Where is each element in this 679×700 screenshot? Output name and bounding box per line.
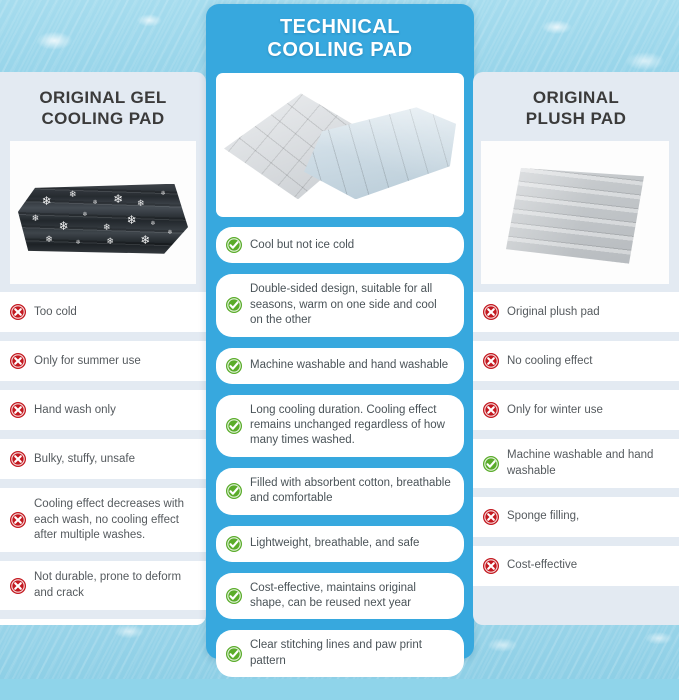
snowflake-icon: ❄ <box>140 234 150 246</box>
right-panel-title: ORIGINAL PLUSH PAD <box>473 72 679 141</box>
panel-technical-cooling-pad: TECHNICAL COOLING PAD Cool but not ice c… <box>206 4 474 659</box>
snowflake-icon: ❄ <box>103 223 111 232</box>
list-item-label: Machine washable and hand washable <box>507 448 669 479</box>
list-item-label: Only for summer use <box>34 354 141 369</box>
list-item: Bulky, stuffy, unsafe <box>0 439 206 479</box>
snowflake-icon: ❄ <box>76 240 81 246</box>
snowflake-icon: ❄ <box>32 214 40 223</box>
list-item: Cool but not ice cold <box>216 227 464 263</box>
cross-icon <box>483 304 499 320</box>
check-icon <box>226 588 242 604</box>
left-feature-list: Too coldOnly for summer useHand wash onl… <box>0 292 206 625</box>
list-item: Not durable, prone to deform and crack <box>0 561 206 610</box>
snowflake-icon: ❄ <box>45 235 53 244</box>
snowflake-icon: ❄ <box>59 220 69 232</box>
check-icon <box>226 237 242 253</box>
left-title-line-1: ORIGINAL GEL <box>10 88 196 109</box>
right-title-line-1: ORIGINAL <box>483 88 669 109</box>
list-item-label: Cool but not ice cold <box>250 238 354 253</box>
center-panel-title: TECHNICAL COOLING PAD <box>206 4 474 73</box>
snowflake-icon: ❄ <box>168 230 173 236</box>
list-item-label: Clear stitching lines and paw print patt… <box>250 638 452 669</box>
snowflake-icon: ❄ <box>113 193 123 205</box>
center-product-image-box <box>216 73 464 217</box>
technical-cooling-pad-photo <box>224 85 456 205</box>
list-item-label: Lightweight, breathable, and safe <box>250 536 419 551</box>
right-feature-list: Original plush padNo cooling effectOnly … <box>473 292 679 586</box>
cross-icon <box>483 509 499 525</box>
list-item: Machine washable and hand washable <box>216 348 464 384</box>
check-icon <box>226 646 242 662</box>
snowflake-icon: ❄ <box>137 199 145 208</box>
list-item-label: Original plush pad <box>507 305 600 320</box>
snowflake-icon: ❄ <box>127 214 137 226</box>
list-item: Cost-effective <box>473 546 679 586</box>
list-item-label: Cost-effective <box>507 558 577 573</box>
snowflake-icon: ❄ <box>161 191 166 197</box>
list-item: Too cold <box>0 292 206 332</box>
list-item: Only for summer use <box>0 341 206 381</box>
list-item: Sponge filling, <box>473 497 679 537</box>
cross-icon <box>483 353 499 369</box>
list-item: No cooling effect <box>473 341 679 381</box>
check-icon <box>226 358 242 374</box>
list-item: Original plush pad <box>473 292 679 332</box>
snowflake-icon: ❄ <box>83 212 88 218</box>
list-item-label: Not durable, prone to deform and crack <box>34 570 196 601</box>
gel-cooling-pad-photo: ❄ ❄ ❄ ❄ ❄ ❄ ❄ ❄ ❄ ❄ ❄ ❄ ❄ ❄ ❄ ❄ ❄ <box>18 184 188 254</box>
panel-original-plush-pad: ORIGINAL PLUSH PAD Original plush padNo … <box>473 72 679 625</box>
list-item-label: Long cooling duration. Cooling effect re… <box>250 403 452 449</box>
list-item: Cooling effect decreases with each wash,… <box>0 488 206 552</box>
cross-icon <box>10 451 26 467</box>
list-item: Filled with absorbent cotton, breathable… <box>216 468 464 515</box>
list-item: Only for winter use <box>473 390 679 430</box>
list-item: Machine washable and hand washable <box>473 439 679 488</box>
center-feature-list: Cool but not ice coldDouble-sided design… <box>206 217 474 700</box>
panel-original-gel-cooling-pad: ORIGINAL GEL COOLING PAD ❄ ❄ ❄ ❄ ❄ ❄ ❄ ❄… <box>0 72 206 625</box>
check-icon <box>226 536 242 552</box>
left-panel-title: ORIGINAL GEL COOLING PAD <box>0 72 206 141</box>
list-item-label: No cooling effect <box>507 354 592 369</box>
list-item-label: Sponge filling, <box>507 509 579 524</box>
list-item: Double-sided design, suitable for all se… <box>216 274 464 336</box>
check-icon <box>226 297 242 313</box>
list-item-label: Bulky, stuffy, unsafe <box>34 452 135 467</box>
center-title-line-2: COOLING PAD <box>214 39 466 62</box>
list-item: Clear stitching lines and paw print patt… <box>216 630 464 677</box>
list-item: Cost-effective, maintains original shape… <box>216 573 464 620</box>
cross-icon <box>10 353 26 369</box>
center-title-line-1: TECHNICAL <box>214 16 466 39</box>
left-title-line-2: COOLING PAD <box>10 109 196 130</box>
left-product-image-box: ❄ ❄ ❄ ❄ ❄ ❄ ❄ ❄ ❄ ❄ ❄ ❄ ❄ ❄ ❄ ❄ ❄ <box>10 141 196 284</box>
list-item-label: Filled with absorbent cotton, breathable… <box>250 476 452 507</box>
plush-pad-photo <box>500 164 650 268</box>
list-item: Hand wash only <box>0 390 206 430</box>
check-icon <box>483 456 499 472</box>
check-icon <box>226 418 242 434</box>
list-item: Lightweight, breathable, and safe <box>216 526 464 562</box>
cross-icon <box>483 402 499 418</box>
list-item: Long cooling duration. Cooling effect re… <box>216 395 464 457</box>
list-item-label: Cost-effective, maintains original shape… <box>250 581 452 612</box>
snowflake-icon: ❄ <box>69 190 77 199</box>
right-product-image-box <box>481 141 669 284</box>
snowflake-icon: ❄ <box>151 221 156 227</box>
snowflake-icon: ❄ <box>106 237 114 246</box>
cross-icon <box>10 578 26 594</box>
cross-icon <box>10 304 26 320</box>
right-title-line-2: PLUSH PAD <box>483 109 669 130</box>
cross-icon <box>10 402 26 418</box>
list-item-label: Machine washable and hand washable <box>250 358 448 373</box>
list-item: Single color <box>0 619 206 625</box>
cross-icon <box>483 558 499 574</box>
list-item-label: Double-sided design, suitable for all se… <box>250 282 452 328</box>
snowflake-icon: ❄ <box>93 200 98 206</box>
list-item-label: Hand wash only <box>34 403 116 418</box>
list-item-label: Too cold <box>34 305 77 320</box>
list-item-label: Only for winter use <box>507 403 603 418</box>
snowflake-icon: ❄ <box>42 195 52 207</box>
cross-icon <box>10 512 26 528</box>
list-item-label: Cooling effect decreases with each wash,… <box>34 497 196 543</box>
check-icon <box>226 483 242 499</box>
